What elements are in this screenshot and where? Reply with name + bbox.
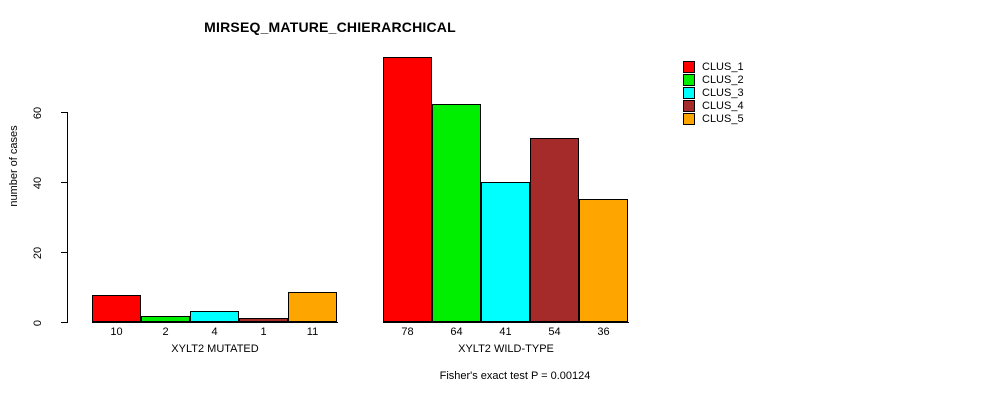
bar-group-wildtype: 78 64 41 54 36 XYLT2 WILD-TYPE [383,0,629,400]
bar-value-wildtype-clus-2: 64 [432,326,481,338]
legend-swatch-clus-3 [683,87,695,99]
legend-swatch-clus-1 [683,61,695,73]
legend-item-clus-5[interactable]: CLUS_5 [683,112,744,125]
legend-label-clus-1: CLUS_1 [702,61,744,73]
legend-item-clus-2[interactable]: CLUS_2 [683,73,744,86]
bar-wildtype-clus-2[interactable] [432,104,481,322]
legend-label-clus-2: CLUS_2 [702,74,744,86]
y-tick-60 [61,112,67,113]
legend-swatch-clus-2 [683,74,695,86]
bar-wildtype-clus-3[interactable] [481,182,530,322]
legend-label-clus-3: CLUS_3 [702,87,744,99]
legend-item-clus-4[interactable]: CLUS_4 [683,99,744,112]
legend-item-clus-3[interactable]: CLUS_3 [683,86,744,99]
bar-value-wildtype-clus-5: 36 [579,326,628,338]
bar-value-labels-mutated: 10 2 4 1 11 [92,326,338,338]
legend-label-clus-4: CLUS_4 [702,100,744,112]
bar-wildtype-clus-4[interactable] [530,138,579,322]
group-label-wildtype: XYLT2 WILD-TYPE [383,343,629,355]
y-axis-line [67,112,68,323]
bar-group-mutated: 10 2 4 1 11 XYLT2 MUTATED [92,0,338,400]
y-axis-title: number of cases [8,106,20,226]
bar-value-labels-wildtype: 78 64 41 54 36 [383,326,629,338]
bar-mutated-clus-3[interactable] [190,311,239,322]
legend-label-clus-5: CLUS_5 [702,113,744,125]
legend-swatch-clus-5 [683,113,695,125]
legend-swatch-clus-4 [683,100,695,112]
baseline-wildtype [383,322,629,323]
y-tick-40 [61,182,67,183]
footer-annotation: Fisher's exact test P = 0.00124 [0,370,990,382]
bar-value-wildtype-clus-1: 78 [383,326,432,338]
bar-value-mutated-clus-2: 2 [141,326,190,338]
legend: CLUS_1 CLUS_2 CLUS_3 CLUS_4 CLUS_5 [683,60,744,125]
bar-value-mutated-clus-1: 10 [92,326,141,338]
group-label-mutated: XYLT2 MUTATED [92,343,338,355]
y-tick-label-0: 0 [32,303,44,343]
y-tick-label-40: 40 [32,163,44,203]
bar-value-mutated-clus-5: 11 [288,326,337,338]
legend-item-clus-1[interactable]: CLUS_1 [683,60,744,73]
bar-value-mutated-clus-3: 4 [190,326,239,338]
bar-wildtype-clus-1[interactable] [383,57,432,322]
y-tick-label-60: 60 [32,93,44,133]
baseline-mutated [92,322,338,323]
bars-mutated [92,57,338,322]
bar-value-wildtype-clus-4: 54 [530,326,579,338]
bars-wildtype [383,57,629,322]
y-tick-20 [61,252,67,253]
bar-value-mutated-clus-4: 1 [239,326,288,338]
y-tick-label-20: 20 [32,233,44,273]
bar-mutated-clus-1[interactable] [92,295,141,322]
bar-wildtype-clus-5[interactable] [579,199,628,322]
chart-figure: MIRSEQ_MATURE_CHIERARCHICAL number of ca… [0,0,990,400]
bar-mutated-clus-5[interactable] [288,292,337,322]
y-tick-0 [61,322,67,323]
bar-value-wildtype-clus-3: 41 [481,326,530,338]
